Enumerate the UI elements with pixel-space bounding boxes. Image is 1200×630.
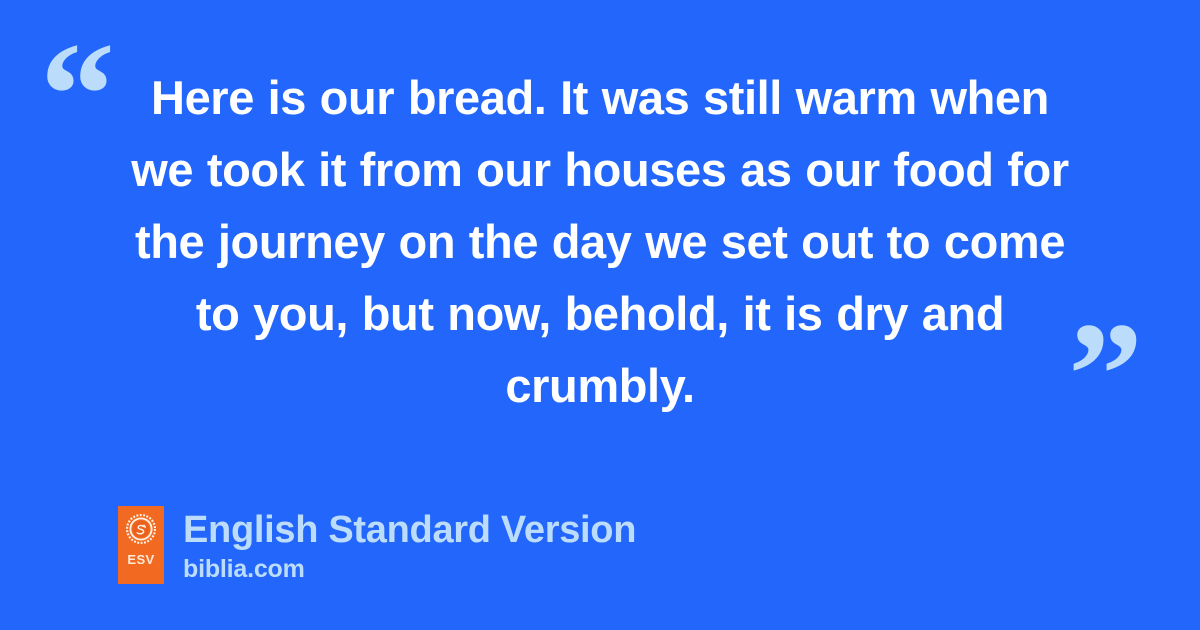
esv-seal-icon <box>126 514 156 544</box>
quote-text: Here is our bread. It was still warm whe… <box>118 62 1082 422</box>
open-quote-icon: “ <box>40 20 115 170</box>
close-quote-icon: ” <box>1068 300 1143 450</box>
quote-area: “ Here is our bread. It was still warm w… <box>0 0 1200 460</box>
quote-card: “ Here is our bread. It was still warm w… <box>0 0 1200 630</box>
attribution: ESV English Standard Version biblia.com <box>118 506 636 584</box>
bible-version-name: English Standard Version <box>183 508 636 552</box>
attribution-text: English Standard Version biblia.com <box>183 506 636 584</box>
esv-logo-badge: ESV <box>118 506 164 584</box>
esv-badge-label: ESV <box>127 553 154 566</box>
site-url[interactable]: biblia.com <box>183 554 636 584</box>
